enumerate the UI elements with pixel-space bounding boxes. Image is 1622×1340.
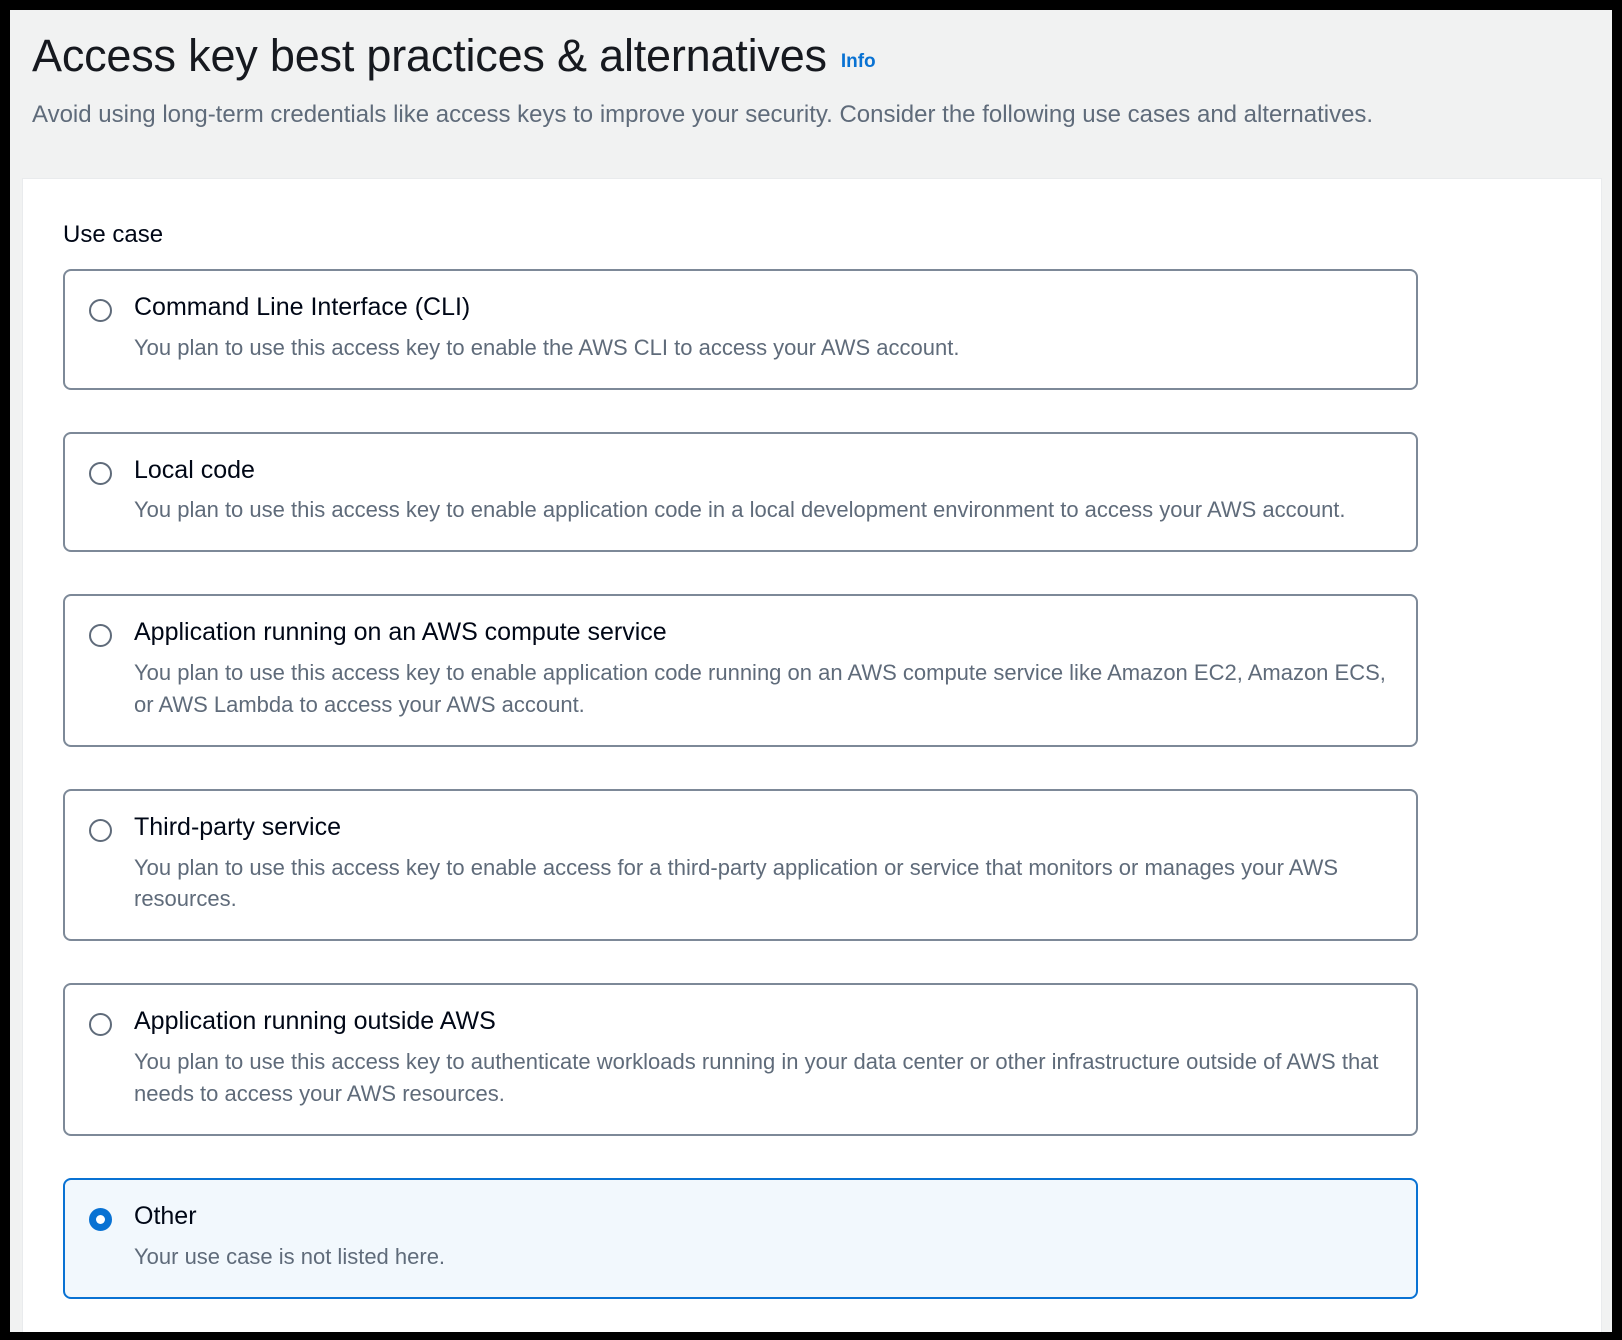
radio-card-aws-compute-service[interactable]: Application running on an AWS compute se… xyxy=(63,594,1418,747)
radio-button-icon[interactable] xyxy=(89,462,112,485)
page-description: Avoid using long-term credentials like a… xyxy=(32,99,1612,131)
radio-card-application-outside-aws[interactable]: Application running outside AWS You plan… xyxy=(63,983,1418,1136)
radio-card-local-code[interactable]: Local code You plan to use this access k… xyxy=(63,432,1418,553)
content-panel: Use case Command Line Interface (CLI) Yo… xyxy=(22,178,1602,1332)
title-row: Access key best practices & alternatives… xyxy=(32,32,1612,81)
use-case-radio-group[interactable]: Command Line Interface (CLI) You plan to… xyxy=(63,269,1601,1299)
page-title: Access key best practices & alternatives xyxy=(32,32,827,81)
radio-description: You plan to use this access key to enabl… xyxy=(134,494,1389,526)
page-header: Access key best practices & alternatives… xyxy=(10,10,1612,178)
radio-title: Other xyxy=(134,1202,1392,1231)
radio-description: You plan to use this access key to authe… xyxy=(134,1046,1389,1110)
radio-description: Your use case is not listed here. xyxy=(134,1241,1389,1273)
radio-text-block: Application running on an AWS compute se… xyxy=(134,618,1392,721)
radio-selected-dot-icon xyxy=(96,1215,105,1224)
radio-button-icon[interactable] xyxy=(89,1208,112,1231)
page-root: Access key best practices & alternatives… xyxy=(10,10,1612,1332)
radio-text-block: Local code You plan to use this access k… xyxy=(134,456,1392,527)
radio-description: You plan to use this access key to enabl… xyxy=(134,657,1389,721)
radio-title: Application running outside AWS xyxy=(134,1007,1392,1036)
radio-title: Third-party service xyxy=(134,813,1392,842)
radio-card-cli[interactable]: Command Line Interface (CLI) You plan to… xyxy=(63,269,1418,390)
radio-text-block: Other Your use case is not listed here. xyxy=(134,1202,1392,1273)
radio-button-icon[interactable] xyxy=(89,1013,112,1036)
radio-title: Local code xyxy=(134,456,1392,485)
radio-text-block: Command Line Interface (CLI) You plan to… xyxy=(134,293,1392,364)
radio-button-icon[interactable] xyxy=(89,819,112,842)
radio-title: Application running on an AWS compute se… xyxy=(134,618,1392,647)
radio-description: You plan to use this access key to enabl… xyxy=(134,852,1389,916)
radio-text-block: Application running outside AWS You plan… xyxy=(134,1007,1392,1110)
radio-title: Command Line Interface (CLI) xyxy=(134,293,1392,322)
radio-button-icon[interactable] xyxy=(89,299,112,322)
radio-card-third-party-service[interactable]: Third-party service You plan to use this… xyxy=(63,789,1418,942)
radio-description: You plan to use this access key to enabl… xyxy=(134,332,1389,364)
radio-card-other[interactable]: Other Your use case is not listed here. xyxy=(63,1178,1418,1299)
radio-button-icon[interactable] xyxy=(89,624,112,647)
radio-text-block: Third-party service You plan to use this… xyxy=(134,813,1392,916)
use-case-label: Use case xyxy=(63,221,1601,249)
info-link[interactable]: Info xyxy=(841,51,876,73)
